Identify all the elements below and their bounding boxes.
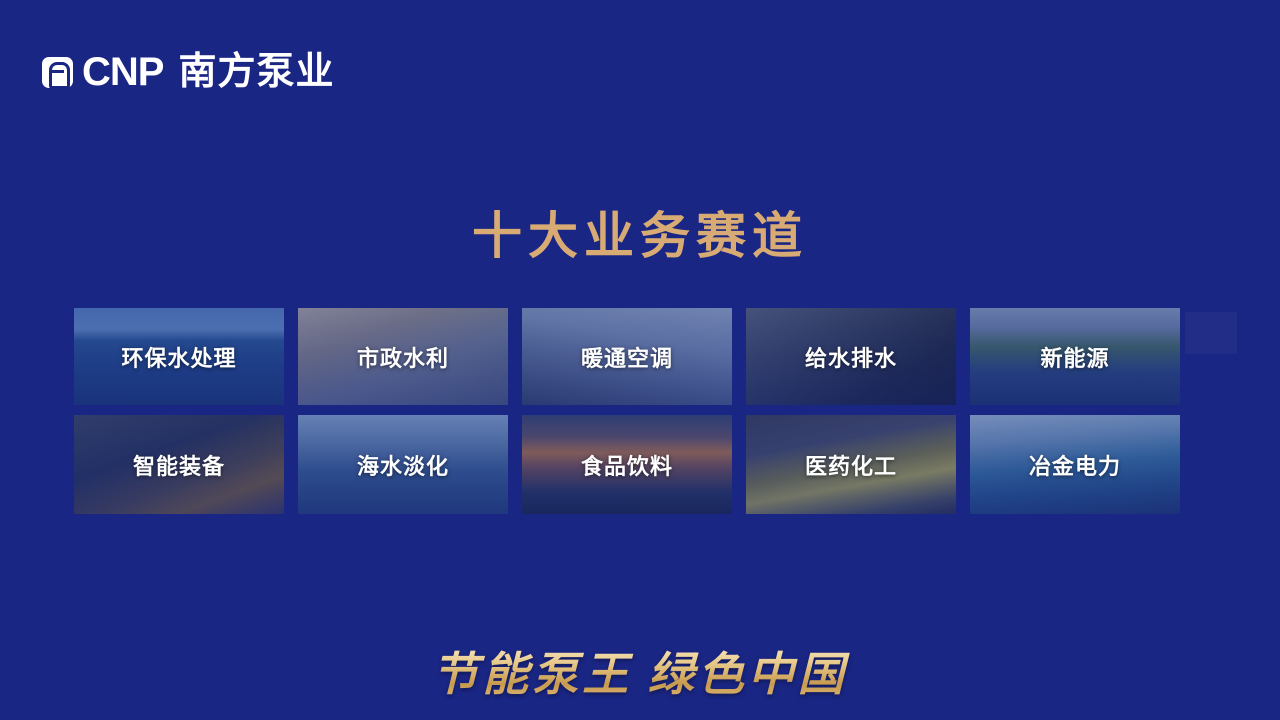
business-card-label: 食品饮料 — [581, 449, 673, 481]
cnp-pump-mark-icon — [42, 57, 73, 88]
business-card-shipinyinliao[interactable]: 食品饮料 — [522, 415, 732, 514]
placeholder-block — [1185, 312, 1237, 354]
business-card-zhinengzhuangbei[interactable]: 智能装备 — [74, 415, 284, 514]
business-card-label: 冶金电力 — [1029, 449, 1121, 481]
page-title: 十大业务赛道 — [0, 206, 1280, 266]
business-card-nuantongkongtiao[interactable]: 暖通空调 — [522, 308, 732, 405]
business-card-yiyaohuagong[interactable]: 医药化工 — [746, 415, 956, 514]
business-card-huanbaoshuichuli[interactable]: 环保水处理 — [74, 308, 284, 405]
business-track-grid: 环保水处理 市政水利 暖通空调 给水排水 新能源 — [74, 308, 1199, 524]
slogan-tagline: 节能泵王 绿色中国 — [0, 638, 1280, 704]
card-row-1: 环保水处理 市政水利 暖通空调 给水排水 新能源 — [74, 308, 1199, 405]
business-card-label: 给水排水 — [805, 341, 897, 373]
slide-root: CNP 南方泵业 十大业务赛道 环保水处理 市政水利 暖通空调 — [0, 0, 1280, 720]
brand-logo: CNP 南方泵业 — [42, 52, 334, 92]
business-card-yejindianli[interactable]: 冶金电力 — [970, 415, 1180, 514]
business-card-label: 新能源 — [1040, 341, 1109, 373]
card-row-2: 智能装备 海水淡化 食品饮料 医药化工 冶金电力 — [74, 415, 1199, 514]
business-card-xinnengyuan[interactable]: 新能源 — [970, 308, 1180, 405]
business-card-label: 海水淡化 — [357, 449, 449, 481]
business-card-label: 智能装备 — [133, 449, 225, 481]
business-card-label: 医药化工 — [805, 449, 897, 481]
business-card-haishuidanhua[interactable]: 海水淡化 — [298, 415, 508, 514]
business-card-label: 暖通空调 — [581, 341, 673, 373]
logo-chinese-text: 南方泵业 — [178, 53, 334, 91]
logo-latin-text: CNP — [82, 52, 163, 92]
business-card-shizhengshuili[interactable]: 市政水利 — [298, 308, 508, 405]
business-card-jishuipaishui[interactable]: 给水排水 — [746, 308, 956, 405]
business-card-label: 环保水处理 — [121, 341, 236, 373]
business-card-label: 市政水利 — [357, 341, 449, 373]
